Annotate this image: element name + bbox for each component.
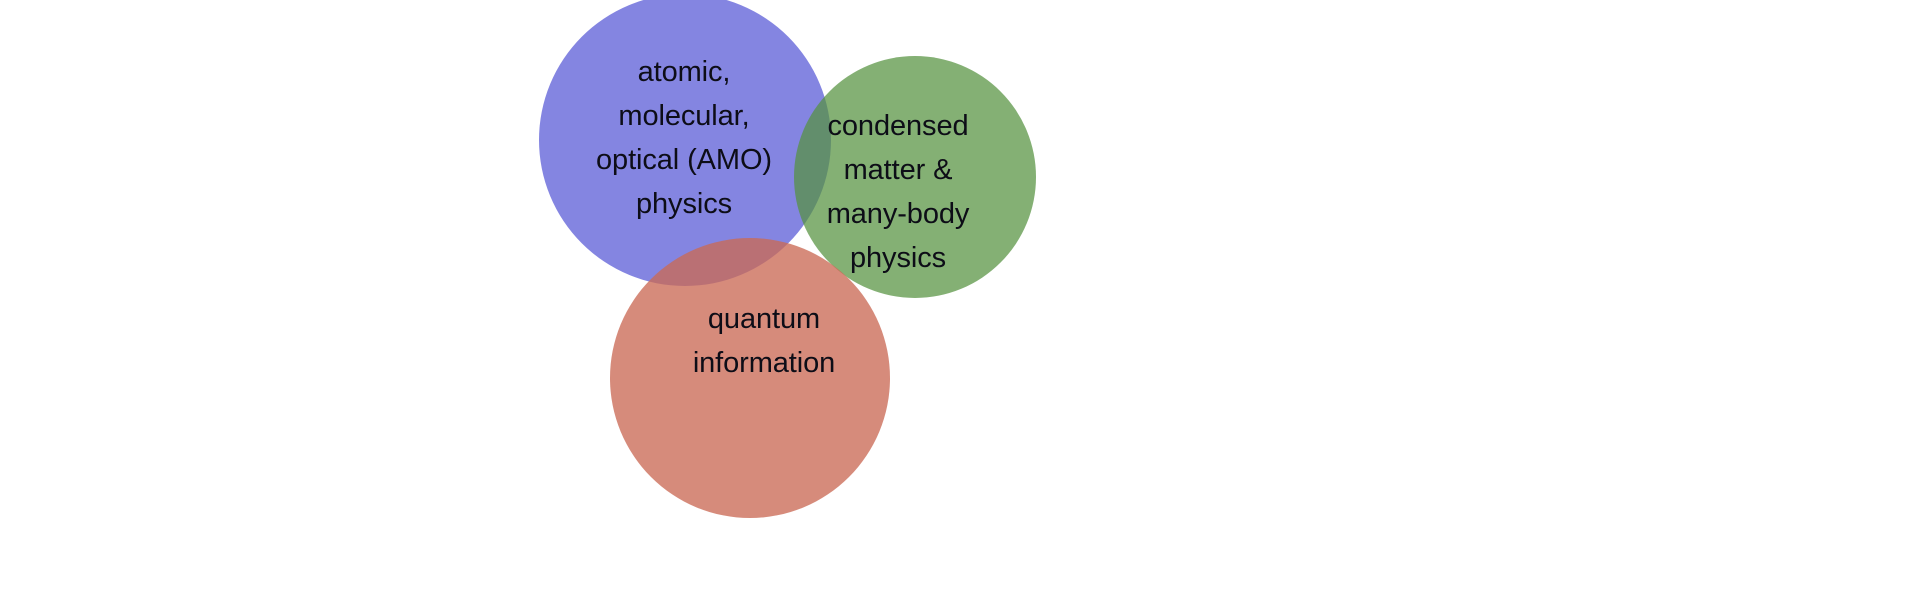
label-condensed-matter: condensed matter & many-body physics <box>796 104 1000 280</box>
label-quantum-information: quantum information <box>636 297 892 385</box>
venn-diagram: atomic, molecular, optical (AMO) physics… <box>0 0 1920 596</box>
label-amo-physics: atomic, molecular, optical (AMO) physics <box>556 50 812 226</box>
venn-circles-canvas <box>0 0 1920 596</box>
